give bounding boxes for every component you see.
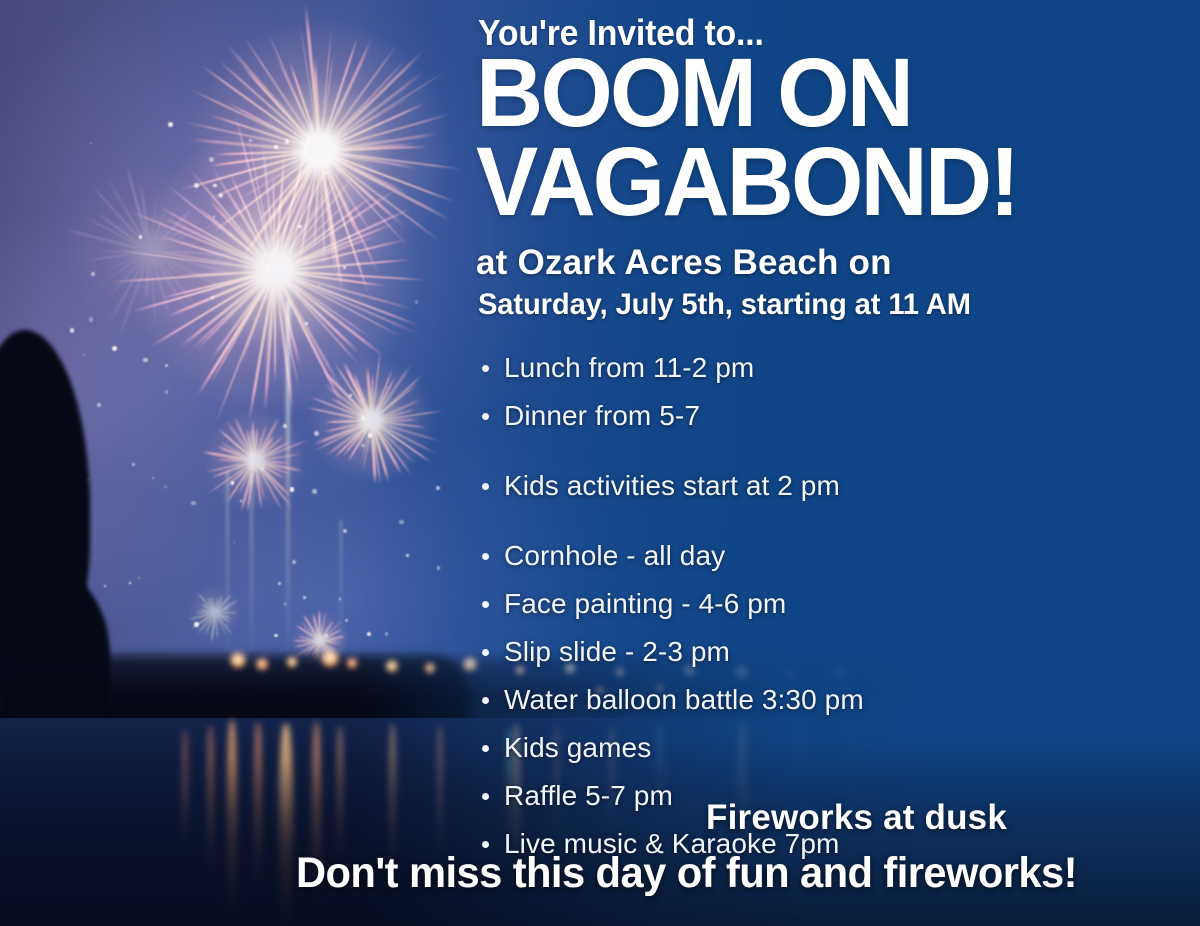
schedule-item: Kids games bbox=[478, 724, 1098, 772]
schedule-item: Face painting - 4-6 pm bbox=[478, 580, 1098, 628]
schedule-item: Cornhole - all day bbox=[478, 532, 1098, 580]
event-headline: BOOM ON VAGABOND! bbox=[476, 48, 1071, 226]
schedule-item: Slip slide - 2-3 pm bbox=[478, 628, 1098, 676]
schedule-item: Kids activities start at 2 pm bbox=[478, 462, 1098, 510]
event-flyer: You're Invited to... BOOM ON VAGABOND! a… bbox=[0, 0, 1200, 926]
datetime-line: Saturday, July 5th, starting at 11 AM bbox=[478, 288, 971, 322]
flyer-text-content: You're Invited to... BOOM ON VAGABOND! a… bbox=[0, 0, 1200, 926]
schedule-item: Lunch from 11-2 pm bbox=[478, 344, 1098, 392]
fireworks-dusk-note: Fireworks at dusk bbox=[706, 798, 1007, 838]
schedule-item: Water balloon battle 3:30 pm bbox=[478, 676, 1098, 724]
schedule-list: Lunch from 11-2 pmDinner from 5-7Kids ac… bbox=[478, 344, 1098, 868]
closing-tagline: Don't miss this day of fun and fireworks… bbox=[296, 849, 1077, 898]
schedule-item: Dinner from 5-7 bbox=[478, 392, 1098, 440]
venue-line: at Ozark Acres Beach on bbox=[476, 243, 892, 283]
headline-line-2: VAGABOND! bbox=[476, 137, 1071, 226]
